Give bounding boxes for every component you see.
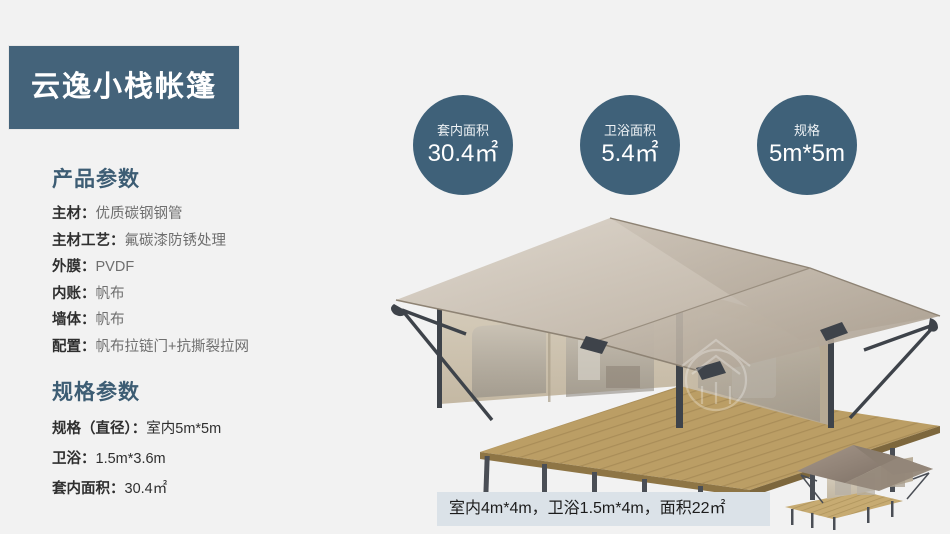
spec-value: 室内5m*5m [146, 421, 221, 437]
spec-label: 配置： [52, 339, 96, 355]
spec-row: 规格（直径）：室内5m*5m [52, 416, 372, 443]
spec-row: 内账：帆布 [52, 283, 372, 306]
spec-value: 1.5m*3.6m [96, 451, 166, 467]
spec-row: 墙体：帆布 [52, 309, 372, 332]
spec-value: 优质碳钢钢管 [96, 206, 183, 222]
slide-root: 云逸小栈帐篷 产品参数 主材：优质碳钢钢管 主材工艺：氟碳漆防锈处理 外膜：PV… [0, 0, 950, 534]
caption-text: 室内4m*4m，卫浴1.5m*4m，面积22㎡ [449, 501, 726, 517]
stat-badge-value: 5m*5m [769, 141, 845, 166]
stat-badge-label: 套内面积 [437, 124, 489, 138]
spec-value: 帆布拉链门+抗撕裂拉网 [96, 339, 249, 355]
section-heading-product: 产品参数 [52, 168, 372, 191]
spec-row: 外膜：PVDF [52, 256, 372, 279]
stat-badge-value: 30.4㎡ [428, 141, 499, 166]
spec-row: 卫浴：1.5m*3.6m [52, 446, 372, 473]
stat-badge-bathroom-area: 卫浴面积 5.4㎡ [580, 95, 680, 195]
spec-value: 30.4㎡ [125, 481, 168, 497]
spec-label: 规格（直径）： [52, 421, 146, 437]
title-banner: 云逸小栈帐篷 [8, 45, 240, 130]
stat-badge-interior-area: 套内面积 30.4㎡ [413, 95, 513, 195]
spec-label: 主材： [52, 206, 96, 222]
spec-value: 帆布 [96, 312, 125, 328]
caption-bar: 室内4m*4m，卫浴1.5m*4m，面积22㎡ [437, 492, 770, 526]
spec-label: 主材工艺： [52, 233, 125, 249]
page-title: 云逸小栈帐篷 [31, 73, 217, 102]
spec-label: 墙体： [52, 312, 96, 328]
spec-label: 内账： [52, 286, 96, 302]
stat-badge-label: 规格 [794, 124, 820, 138]
spec-row: 主材工艺：氟碳漆防锈处理 [52, 230, 372, 253]
section-size-params: 规格参数 规格（直径）：室内5m*5m 卫浴：1.5m*3.6m 套内面积：30… [52, 381, 372, 503]
spec-label: 卫浴： [52, 451, 96, 467]
section-product-params: 产品参数 主材：优质碳钢钢管 主材工艺：氟碳漆防锈处理 外膜：PVDF 内账：帆… [52, 168, 372, 359]
spec-value: 氟碳漆防锈处理 [125, 233, 227, 249]
spec-row: 配置：帆布拉链门+抗撕裂拉网 [52, 336, 372, 359]
spec-value: 帆布 [96, 286, 125, 302]
section-heading-specs: 规格参数 [52, 381, 372, 404]
stat-badge-label: 卫浴面积 [604, 124, 656, 138]
spec-label: 外膜： [52, 259, 96, 275]
spec-label: 套内面积： [52, 481, 125, 497]
stat-badge-dimensions: 规格 5m*5m [757, 95, 857, 195]
spec-row: 主材：优质碳钢钢管 [52, 203, 372, 226]
tent-illustration-inset [775, 435, 943, 530]
spec-row: 套内面积：30.4㎡ [52, 476, 372, 503]
stat-badge-value: 5.4㎡ [601, 141, 658, 166]
spec-value: PVDF [96, 259, 135, 275]
spec-panel: 产品参数 主材：优质碳钢钢管 主材工艺：氟碳漆防锈处理 外膜：PVDF 内账：帆… [52, 168, 372, 521]
